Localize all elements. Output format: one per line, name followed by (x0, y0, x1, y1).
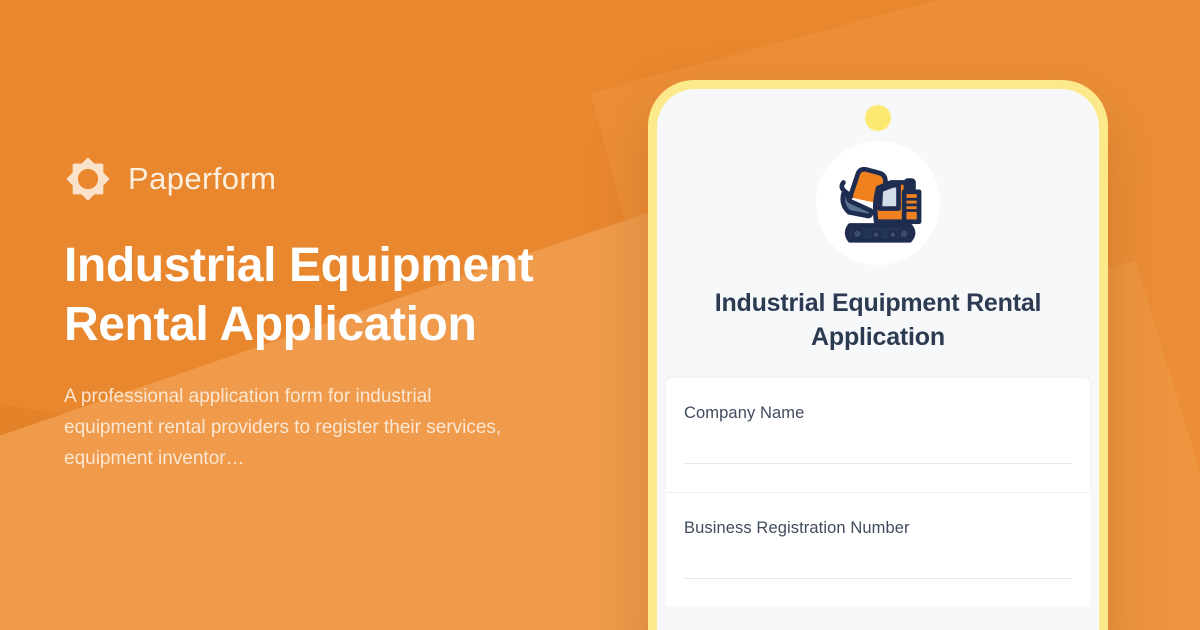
form-title: Industrial Equipment Rental Application (691, 287, 1065, 354)
business-registration-number-input[interactable] (684, 578, 1072, 579)
form-field-business-registration-number[interactable]: Business Registration Number (666, 492, 1090, 606)
form-field-list: Company Name Business Registration Numbe… (657, 378, 1099, 606)
page-title: Industrial Equipment Rental Application (64, 237, 584, 354)
field-label: Company Name (684, 404, 1072, 423)
field-label: Business Registration Number (684, 519, 1072, 538)
brand-wordmark: Paperform (128, 161, 276, 197)
form-field-company-name[interactable]: Company Name (666, 378, 1090, 492)
phone-mockup: Industrial Equipment Rental Application … (648, 80, 1108, 630)
phone-screen: Industrial Equipment Rental Application … (657, 89, 1099, 630)
excavator-icon (822, 147, 934, 259)
camera-dot-icon (865, 105, 891, 131)
illustration-circle (816, 141, 940, 265)
brand-lockup: Paperform (64, 155, 644, 203)
paperform-flower-logo-icon (64, 155, 112, 203)
hero-content: Paperform Industrial Equipment Rental Ap… (64, 0, 644, 630)
company-name-input[interactable] (684, 463, 1072, 464)
illustration-container (657, 141, 1099, 265)
page-description: A professional application form for indu… (64, 382, 524, 474)
